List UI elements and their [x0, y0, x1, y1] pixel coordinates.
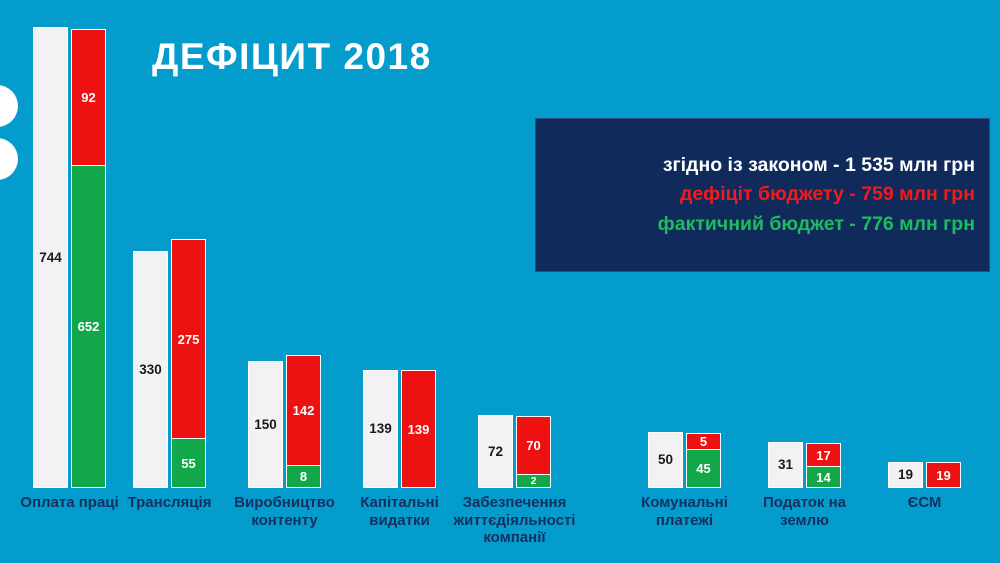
- bar-group: 311714: [768, 487, 841, 488]
- bar-value-actual: 14: [816, 471, 830, 484]
- bar-stack[interactable]: 702: [516, 414, 551, 488]
- bar-value-deficit: 17: [816, 449, 830, 462]
- bar-chart-plot: 74492652Оплата праці33027555Трансляція15…: [0, 0, 1000, 563]
- bar-value-actual: 55: [181, 457, 195, 470]
- bar-pair: 72702: [478, 414, 551, 488]
- bar-value-deficit: 19: [936, 469, 950, 482]
- bar-plan[interactable]: 72: [478, 415, 513, 488]
- category-label: Оплата праці: [20, 494, 120, 512]
- bar-value-deficit: 275: [178, 333, 200, 346]
- bar-segment-deficit[interactable]: 70: [516, 416, 551, 476]
- bar-value-deficit: 70: [526, 439, 540, 452]
- bar-pair: 1501428: [248, 353, 321, 488]
- bar-stack[interactable]: 545: [686, 431, 721, 488]
- category-label: Виробництво контенту: [217, 494, 353, 529]
- bar-group: 1501428: [248, 487, 321, 488]
- bar-pair: 1919: [888, 462, 961, 488]
- category-label: Податок на землю: [747, 494, 862, 529]
- bar-value-plan: 139: [369, 422, 392, 436]
- bar-group: 74492652: [33, 487, 106, 488]
- bar-group: 139139: [363, 487, 436, 488]
- bar-stack[interactable]: 1428: [286, 353, 321, 488]
- category-label: Комунальні платежі: [625, 494, 745, 529]
- bar-segment-deficit[interactable]: 17: [806, 443, 841, 468]
- bar-value-actual: 652: [78, 320, 100, 333]
- bar-value-actual: 45: [696, 462, 710, 475]
- bar-stack[interactable]: 139: [401, 370, 436, 488]
- bar-segment-actual[interactable]: 45: [686, 449, 721, 488]
- bar-segment-actual[interactable]: 2: [516, 474, 551, 488]
- bar-segment-actual[interactable]: 14: [806, 466, 841, 488]
- bar-plan[interactable]: 31: [768, 442, 803, 488]
- bar-value-plan: 19: [898, 468, 913, 482]
- category-label: Забезпечення життєдіяльності компанії: [442, 494, 587, 547]
- category-label: Капітальні видатки: [345, 494, 455, 529]
- bar-value-actual: 8: [300, 470, 307, 483]
- bar-stack[interactable]: 27555: [171, 237, 206, 488]
- bar-plan[interactable]: 19: [888, 462, 923, 488]
- bar-segment-deficit[interactable]: 92: [71, 29, 106, 167]
- category-label: Трансляція: [110, 494, 230, 512]
- bar-value-deficit: 139: [408, 423, 430, 436]
- bar-segment-deficit[interactable]: 5: [686, 433, 721, 451]
- bar-pair: 311714: [768, 441, 841, 488]
- bar-pair: 50545: [648, 431, 721, 488]
- bar-group: 1919: [888, 487, 961, 488]
- bar-segment-actual[interactable]: 8: [286, 465, 321, 488]
- bar-segment-deficit[interactable]: 139: [401, 370, 436, 488]
- bar-value-actual: 2: [531, 476, 537, 487]
- bar-plan[interactable]: 744: [33, 27, 68, 488]
- bar-value-plan: 72: [488, 445, 503, 459]
- category-label: ЄСМ: [880, 494, 970, 512]
- bar-plan[interactable]: 50: [648, 432, 683, 488]
- bar-stack[interactable]: 92652: [71, 27, 106, 488]
- bar-value-deficit: 92: [81, 91, 95, 104]
- bar-group: 50545: [648, 487, 721, 488]
- bar-segment-deficit[interactable]: 275: [171, 239, 206, 440]
- bar-value-deficit: 142: [293, 404, 315, 417]
- bar-pair: 33027555: [133, 237, 206, 488]
- bar-segment-actual[interactable]: 55: [171, 438, 206, 488]
- bar-value-deficit: 5: [700, 435, 707, 448]
- bar-segment-deficit[interactable]: 142: [286, 355, 321, 467]
- bar-pair: 74492652: [33, 27, 106, 488]
- bar-stack[interactable]: 19: [926, 462, 961, 488]
- bar-value-plan: 50: [658, 453, 673, 467]
- bar-pair: 139139: [363, 370, 436, 488]
- bar-segment-actual[interactable]: 652: [71, 165, 106, 488]
- bar-value-plan: 31: [778, 458, 793, 472]
- bar-group: 33027555: [133, 487, 206, 488]
- bar-group: 72702: [478, 487, 551, 488]
- bar-value-plan: 744: [39, 251, 62, 265]
- bar-plan[interactable]: 150: [248, 361, 283, 488]
- bar-plan[interactable]: 139: [363, 370, 398, 488]
- bar-segment-deficit[interactable]: 19: [926, 462, 961, 488]
- bar-value-plan: 330: [139, 363, 162, 377]
- slide-canvas: ДЕФІЦИТ 2018 згідно із законом - 1 535 м…: [0, 0, 1000, 563]
- bar-plan[interactable]: 330: [133, 251, 168, 488]
- bar-value-plan: 150: [254, 418, 277, 432]
- bar-stack[interactable]: 1714: [806, 441, 841, 488]
